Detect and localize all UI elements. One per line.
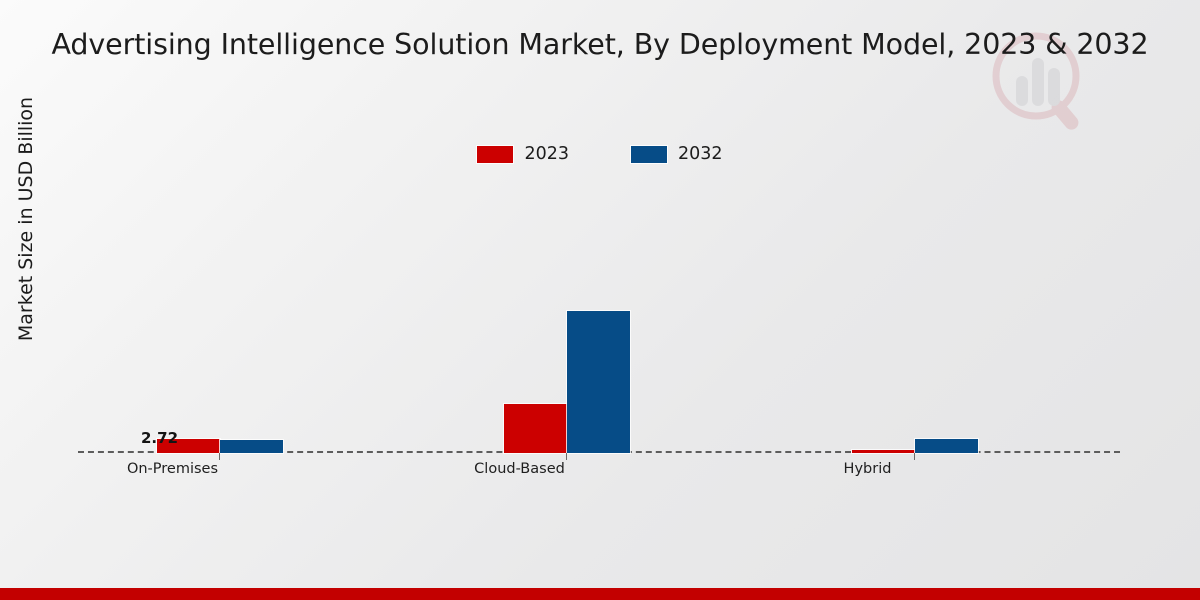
bar-group-on-premises	[125, 176, 314, 453]
bar-2032-cloud-based[interactable]	[567, 311, 630, 453]
accent-band	[0, 588, 1200, 600]
category-label-hybrid: Hybrid	[773, 461, 962, 477]
blue-swatch	[631, 146, 667, 163]
bar-2032-hybrid[interactable]	[915, 439, 978, 453]
legend-label-2032: 2032	[678, 144, 723, 164]
bar-group-cloud-based	[472, 176, 661, 453]
legend-label-2023: 2023	[524, 144, 569, 164]
page-title: Advertising Intelligence Solution Market…	[0, 28, 1200, 61]
chart-legend: 2023 2032	[0, 144, 1200, 164]
axis-tick	[219, 453, 220, 460]
axis-tick	[914, 453, 915, 460]
axis-tick	[566, 453, 567, 460]
bar-2032-on-premises[interactable]	[220, 440, 283, 453]
red-swatch	[477, 146, 513, 163]
bar-2023-cloud-based[interactable]	[504, 404, 567, 453]
bar-group-hybrid	[820, 176, 1009, 453]
category-label-on-premises: On-Premises	[78, 461, 267, 477]
bar-2023-hybrid[interactable]	[852, 450, 915, 453]
y-axis-title: Market Size in USD Billion	[15, 54, 41, 384]
data-label-on-premises-2023: 2.72	[141, 429, 178, 447]
legend-item-2032[interactable]: 2032	[631, 144, 723, 164]
legend-item-2023[interactable]: 2023	[477, 144, 569, 164]
plot-area	[78, 176, 1120, 453]
category-label-cloud-based: Cloud-Based	[425, 461, 614, 477]
